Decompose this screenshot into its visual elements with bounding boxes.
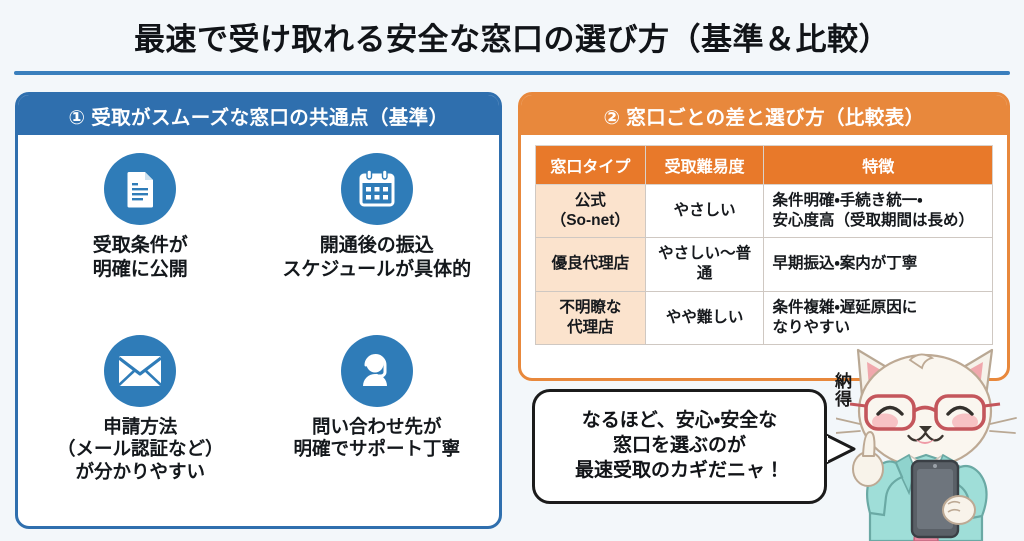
table-col-header-type: 窓口タイプ xyxy=(536,146,646,185)
support-headset-icon xyxy=(341,335,413,407)
criteria-item-label: 問い合わせ先が 明確でサポート丁寧 xyxy=(293,416,460,462)
title-divider-rule xyxy=(14,71,1010,75)
table-cell-feature: 条件明確・手続き統一・ 安心度高（受取期間は長め） xyxy=(764,185,993,238)
criteria-item-label: 受取条件が 明確に公開 xyxy=(93,234,188,281)
title-area: 最速で受け取れる安全な窓口の選び方（基準＆比較） xyxy=(0,0,1024,78)
criteria-item-label: 申請方法 （メール認証など） が分かりやすい xyxy=(57,416,224,485)
table-col-header-difficulty: 受取難易度 xyxy=(645,146,764,185)
table-cell-difficulty: やや難しい xyxy=(645,291,764,344)
table-cell-feature: 条件複雑・遅延原因に なりやすい xyxy=(764,291,993,344)
table-row: 不明瞭な 代理店 やや難しい 条件複雑・遅延原因に なりやすい xyxy=(536,291,993,344)
mascot-speech-text: なるほど、安心・安全な 窓口を選ぶのが 最速受取のカギだニャ！ xyxy=(575,409,784,483)
table-cell-type: 公式 （So-net） xyxy=(536,185,646,238)
criteria-item-schedule: 開通後の振込 スケジュールが具体的 xyxy=(259,145,496,333)
table-col-header-feature: 特徴 xyxy=(764,146,993,185)
table-cell-type: 不明瞭な 代理店 xyxy=(536,291,646,344)
comparison-table: 窓口タイプ 受取難易度 特徴 公式 （So-net） やさしい 条件明確・手続き… xyxy=(535,145,993,345)
cat-mascot xyxy=(836,338,1024,541)
table-cell-difficulty: やさしい～普通 xyxy=(645,238,764,291)
comparison-panel-header: ② 窓口ごとの差と選び方（比較表） xyxy=(521,95,1007,135)
criteria-item-support: 問い合わせ先が 明確でサポート丁寧 xyxy=(259,333,496,521)
table-cell-type: 優良代理店 xyxy=(536,238,646,291)
table-row: 公式 （So-net） やさしい 条件明確・手続き統一・ 安心度高（受取期間は長… xyxy=(536,185,993,238)
table-row: 優良代理店 やさしい～普通 早期振込・案内が丁寧 xyxy=(536,238,993,291)
table-header-row: 窓口タイプ 受取難易度 特徴 xyxy=(536,146,993,185)
criteria-panel: ① 受取がスムーズな窓口の共通点（基準） 受取条件が 明確に公開 xyxy=(15,92,502,529)
document-icon xyxy=(104,153,176,225)
reaction-label-nattoku: 納得 xyxy=(828,372,854,408)
criteria-panel-header: ① 受取がスムーズな窓口の共通点（基準） xyxy=(18,95,499,135)
criteria-item-document: 受取条件が 明確に公開 xyxy=(22,145,259,333)
criteria-item-application: 申請方法 （メール認証など） が分かりやすい xyxy=(22,333,259,521)
page-title: 最速で受け取れる安全な窓口の選び方（基準＆比較） xyxy=(0,14,1024,59)
envelope-icon xyxy=(104,335,176,407)
table-cell-feature: 早期振込・案内が丁寧 xyxy=(764,238,993,291)
comparison-table-wrap: 窓口タイプ 受取難易度 特徴 公式 （So-net） やさしい 条件明確・手続き… xyxy=(521,135,1007,357)
criteria-feature-grid: 受取条件が 明確に公開 xyxy=(18,135,499,526)
table-cell-difficulty: やさしい xyxy=(645,185,764,238)
mascot-speech-bubble: なるほど、安心・安全な 窓口を選ぶのが 最速受取のカギだニャ！ xyxy=(532,389,827,504)
calendar-icon xyxy=(341,153,413,225)
criteria-item-label: 開通後の振込 スケジュールが具体的 xyxy=(282,234,471,281)
